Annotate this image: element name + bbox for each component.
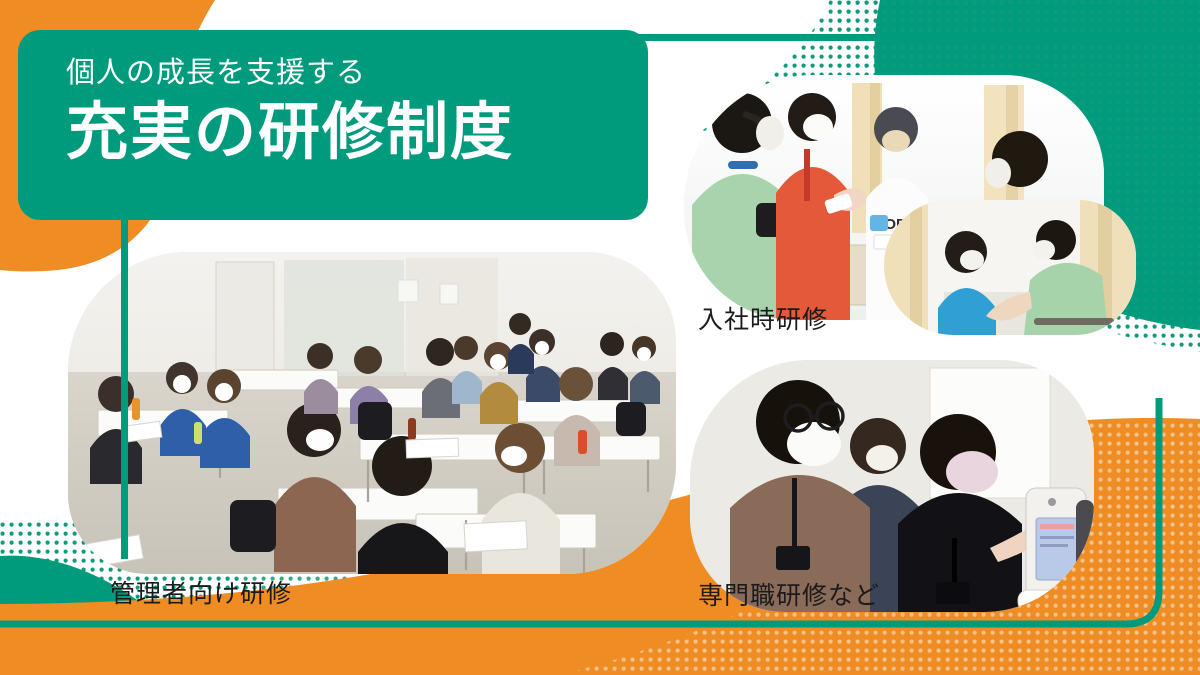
- hero-headline: 充実の研修制度: [66, 98, 514, 167]
- hero-title-text: 個人の成長を支援する 充実の研修制度: [66, 58, 514, 167]
- onboarding-training-photo-inset: [884, 200, 1136, 335]
- specialist-training-photo: [690, 360, 1094, 612]
- hero-title-card: 個人の成長を支援する 充実の研修制度: [18, 30, 648, 220]
- caption-specialist-training: 専門職研修など: [698, 576, 880, 612]
- orange-dot-pattern-bottom-strip: [0, 640, 1200, 675]
- caption-onboarding-training: 入社時研修: [698, 300, 828, 336]
- manager-training-photo: [68, 252, 676, 574]
- hero-subtitle: 個人の成長を支援する: [66, 58, 514, 90]
- slide-canvas: SODA: [0, 0, 1200, 675]
- caption-manager-training: 管理者向け研修: [110, 574, 292, 610]
